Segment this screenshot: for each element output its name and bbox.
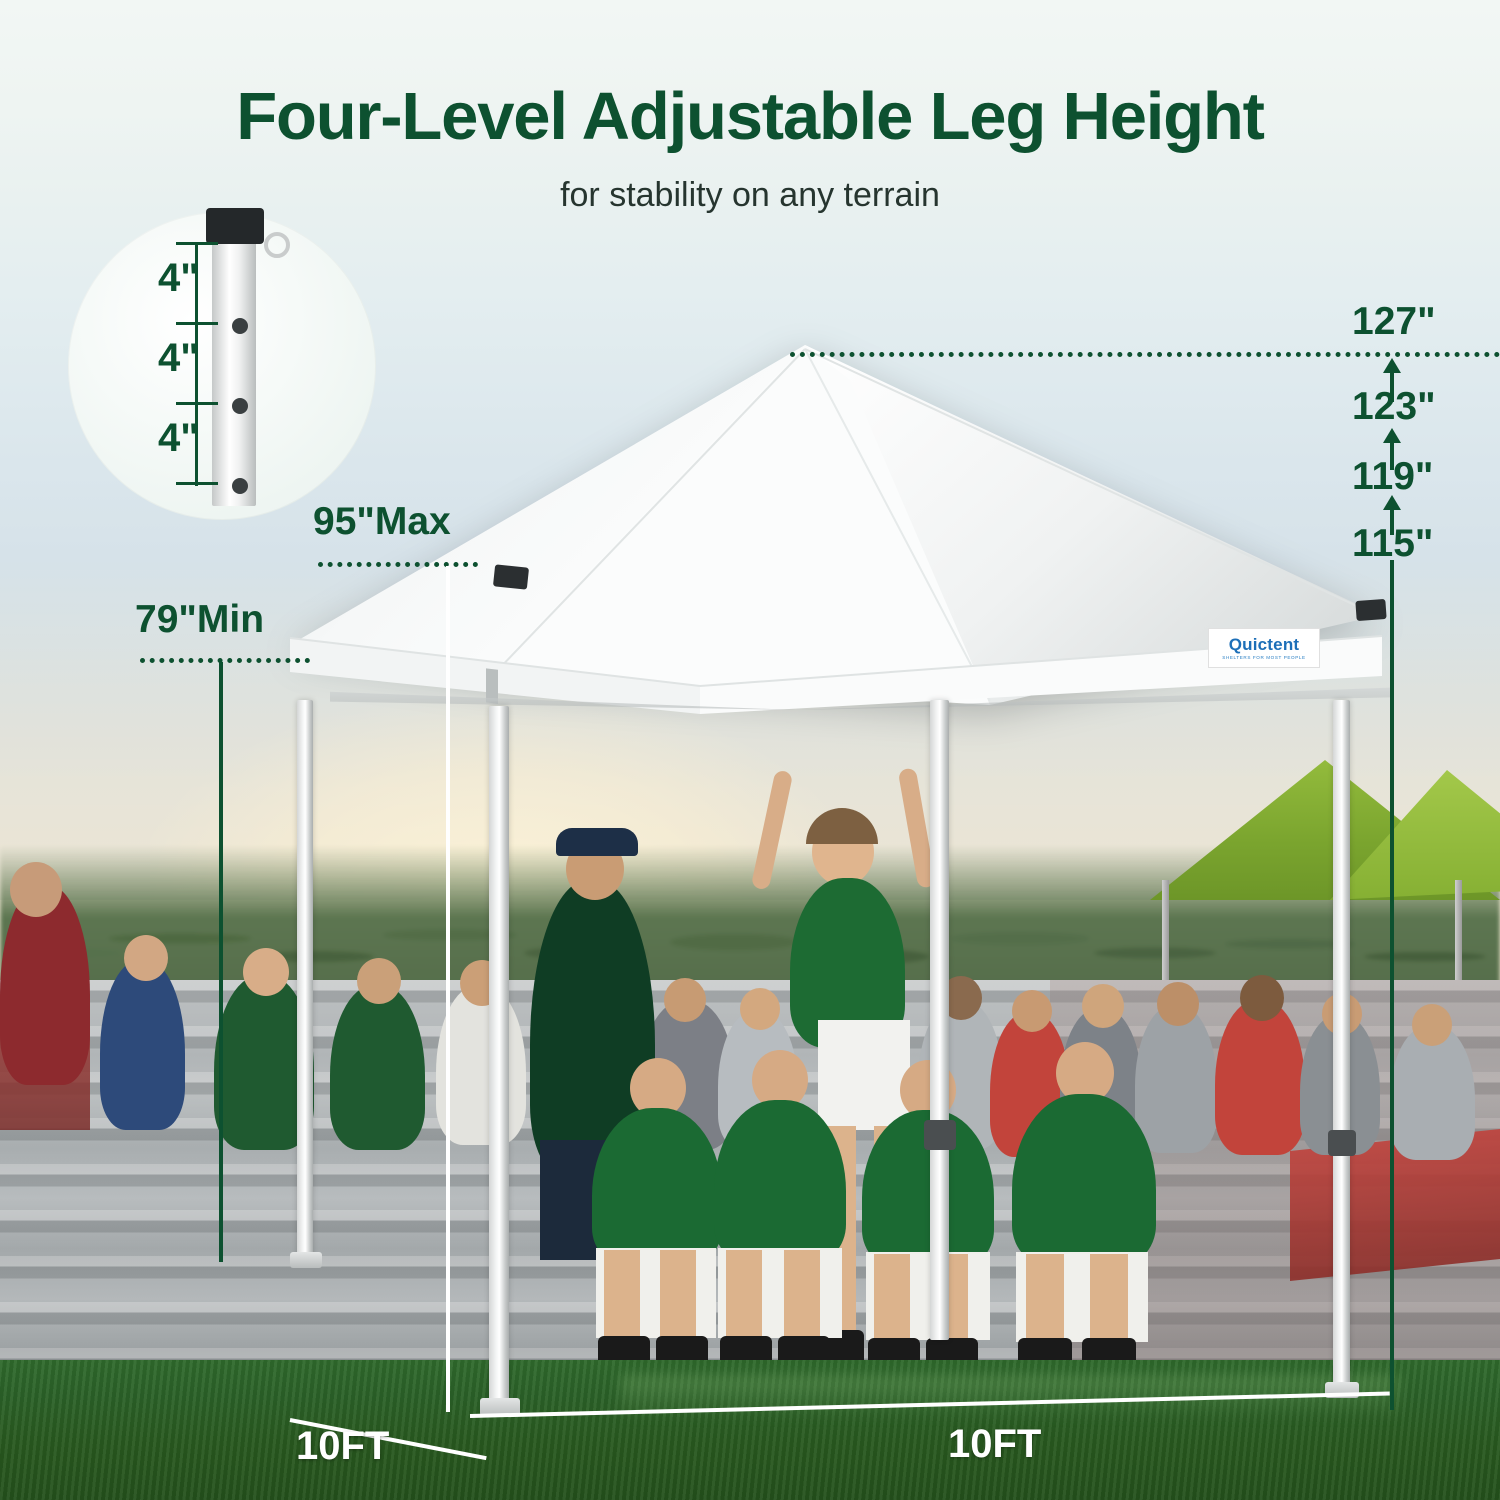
quictent-brand-label: Quictent SHELTERS FOR MOST PEOPLE [1208, 628, 1320, 668]
inset-adjust-hole-1 [232, 318, 248, 334]
inset-increment-2: 4" [158, 336, 199, 381]
peak-level-vertical-line [1390, 560, 1394, 1410]
canopy-leg-lock [924, 1120, 956, 1150]
peak-level-arrow-2 [1383, 428, 1401, 443]
peak-level-dotted-line-127 [790, 352, 1500, 357]
peak-level-seg-1 [1390, 368, 1394, 402]
inset-leg-top-cap [206, 208, 264, 244]
canopy-corner-cap-right [1355, 599, 1386, 621]
canopy-foot-back-left [290, 1252, 322, 1268]
page-title: Four-Level Adjustable Leg Height [0, 78, 1500, 155]
product-lifestyle-image: Quictent SHELTERS FOR MOST PEOPLE Four-L… [0, 0, 1500, 1500]
canopy-leg-front-right [1333, 700, 1350, 1390]
inset-increment-1: 4" [158, 256, 199, 301]
footprint-label-right: 10FT [948, 1422, 1041, 1467]
min-height-dotted-line [140, 658, 310, 663]
min-height-label: 79"Min [135, 598, 264, 642]
max-height-label: 95"Max [313, 500, 451, 544]
min-height-vertical-line [219, 662, 223, 1262]
canopy-leg-back-left [297, 700, 313, 1260]
peak-level-label-127: 127" [1352, 300, 1436, 344]
inset-adjust-hole-2 [232, 398, 248, 414]
canopy-leg-front-left [489, 706, 509, 1406]
canopy-corner-cap-left [493, 564, 529, 589]
canopy-leg-lock-right [1328, 1130, 1356, 1156]
max-height-vertical-line [446, 566, 450, 1412]
footprint-label-left: 10FT [296, 1424, 389, 1469]
brand-name: Quictent [1229, 636, 1300, 653]
peak-level-arrow-1 [1383, 358, 1401, 373]
inset-adjust-hole-3 [232, 478, 248, 494]
canopy-leg-center [930, 700, 949, 1340]
brand-tagline: SHELTERS FOR MOST PEOPLE [1222, 656, 1305, 661]
inset-leg-tube [212, 238, 256, 506]
max-height-dotted-line [318, 562, 478, 567]
inset-pin-ring-icon [264, 232, 290, 258]
peak-level-arrow-3 [1383, 495, 1401, 510]
inset-increment-3: 4" [158, 416, 199, 461]
